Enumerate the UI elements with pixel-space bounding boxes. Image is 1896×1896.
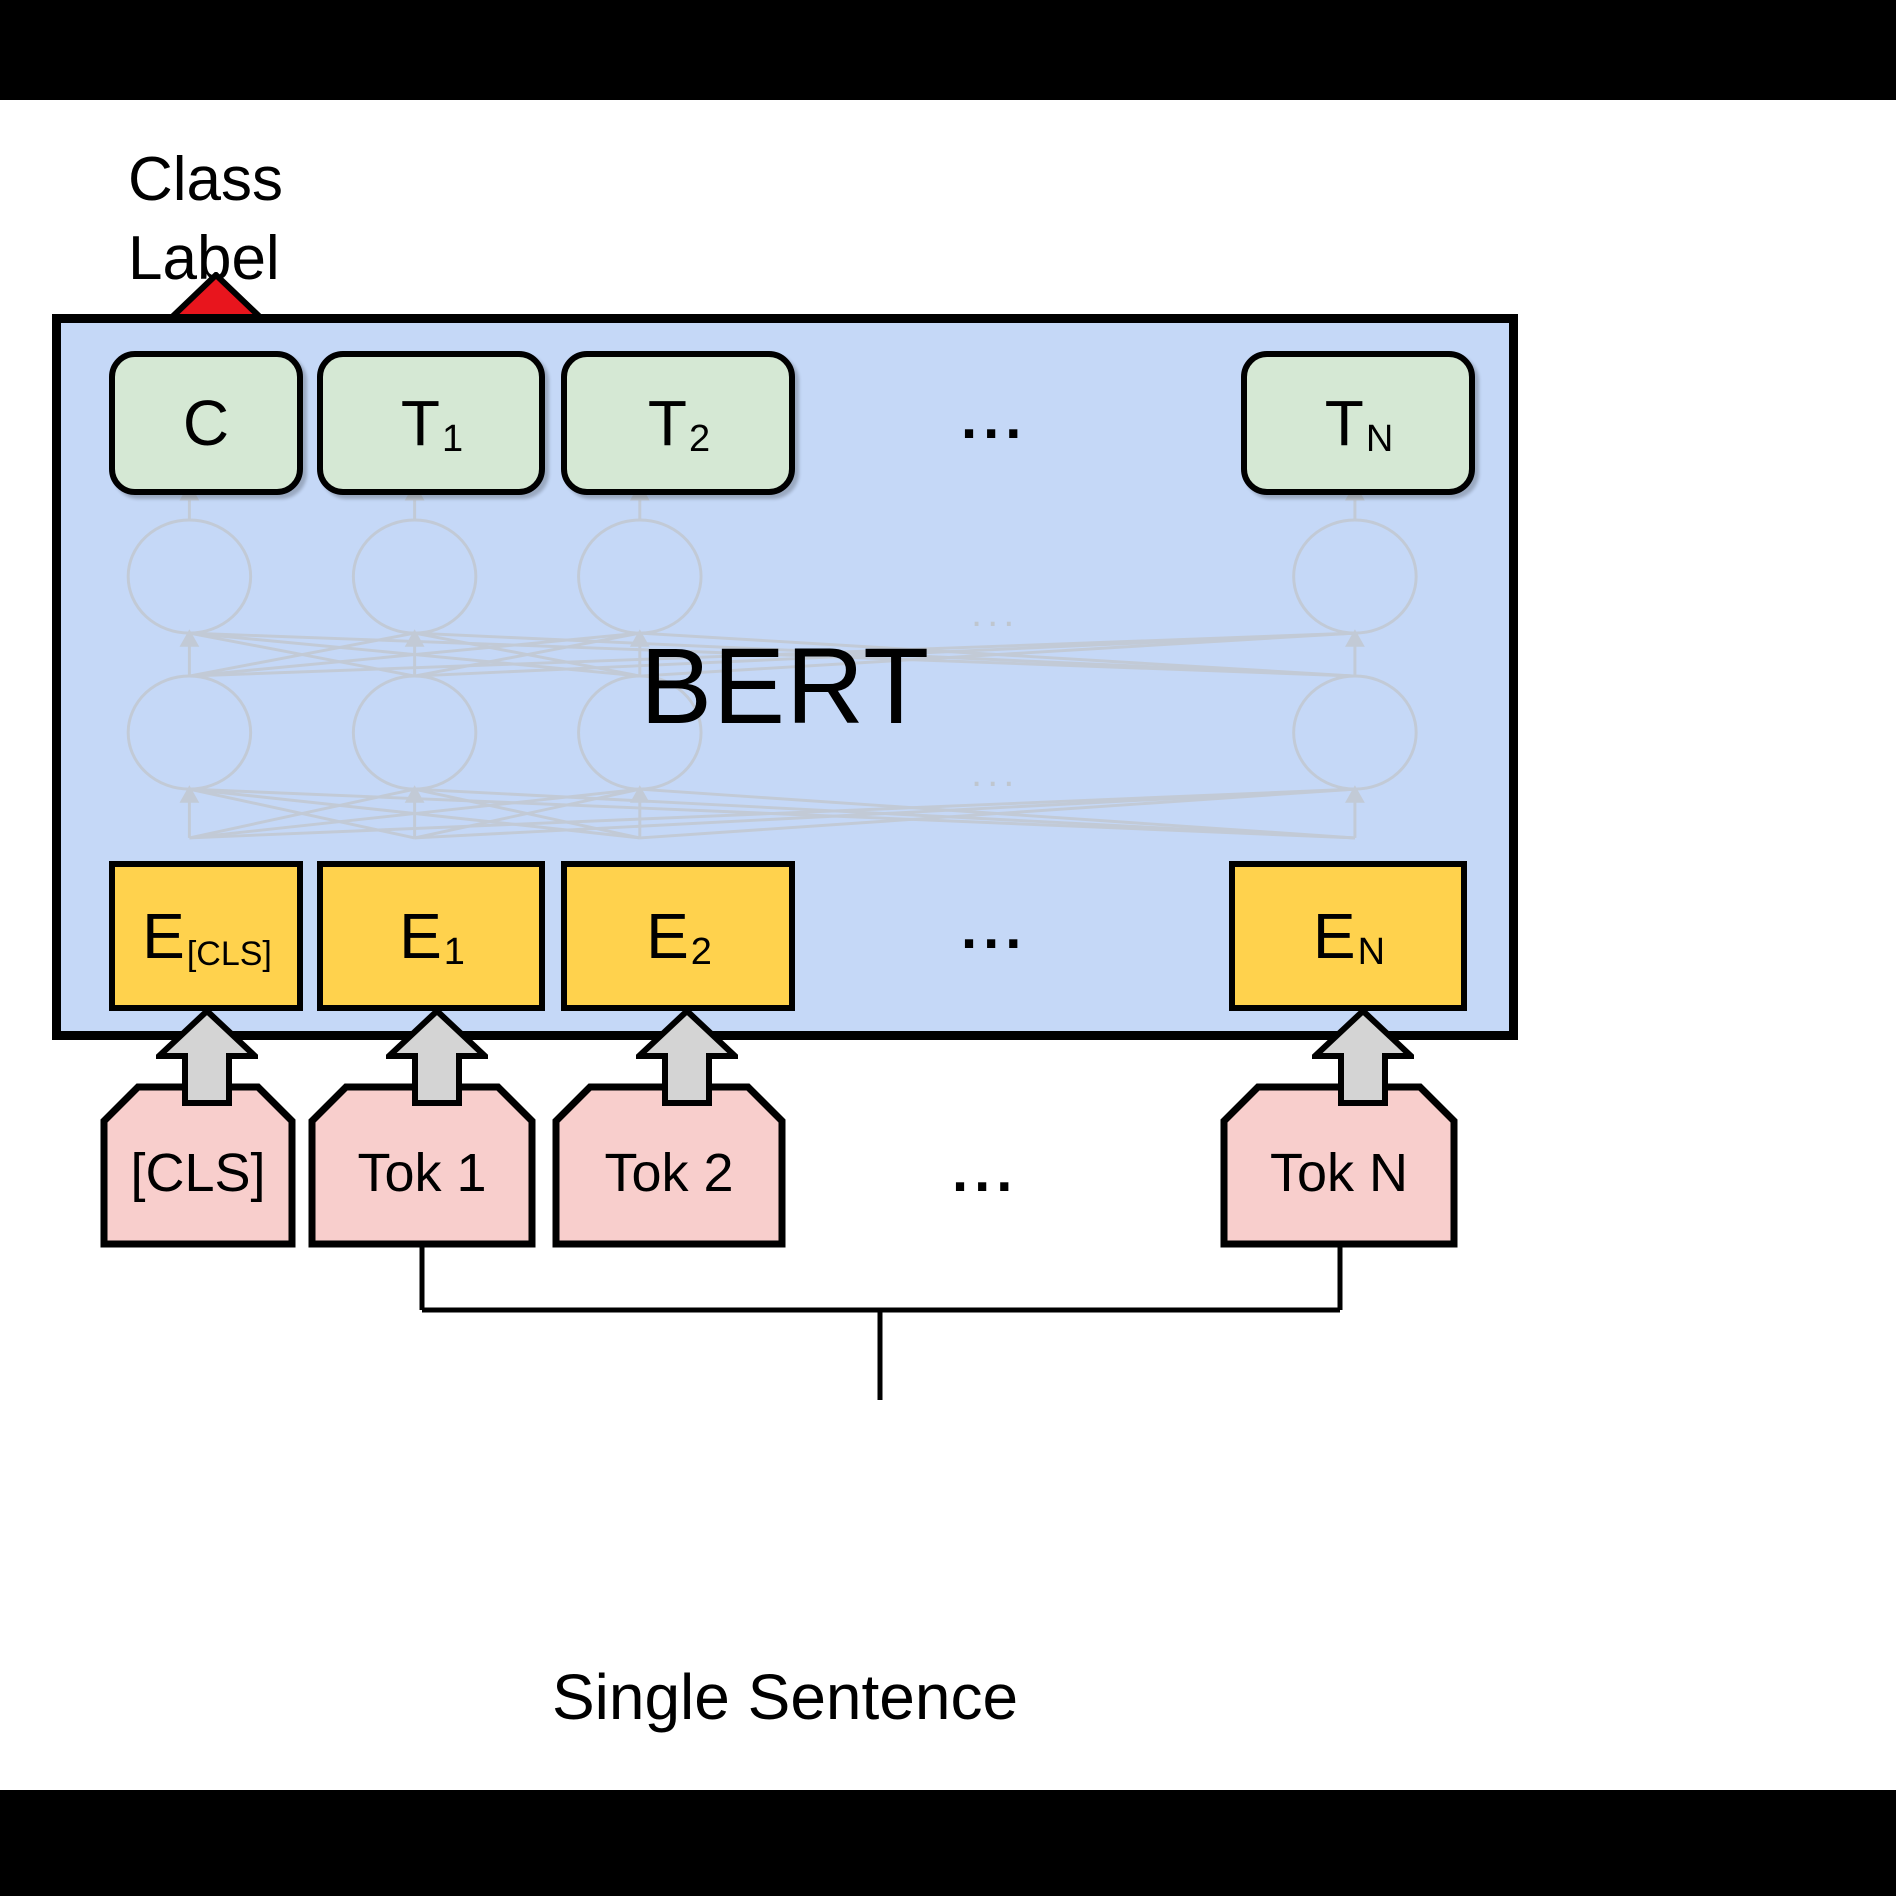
output-box-tn[interactable]: TN xyxy=(1241,351,1475,495)
network-ellipsis-lower: ... xyxy=(971,751,1019,796)
output-box-t2-label: T xyxy=(648,386,687,460)
embedding-box-en-label: E xyxy=(1313,899,1356,973)
embedding-box-e2-label: E xyxy=(646,899,689,973)
figure-canvas: Class Label xyxy=(0,0,1896,1896)
bert-encoder-block: ... ... BERT C T1 T2 ... TN E[CLS] E1 E2… xyxy=(52,314,1518,1040)
letterbox-top xyxy=(0,0,1896,100)
input-arrow-tok1-icon xyxy=(386,1008,488,1106)
input-arrow-tok2-icon xyxy=(636,1008,738,1106)
token-box-tok1[interactable]: Tok 1 xyxy=(308,1083,536,1248)
embedding-row-ellipsis: ... xyxy=(961,895,1027,962)
embedding-box-e1-label: E xyxy=(399,899,442,973)
embedding-box-en-subscript: N xyxy=(1358,933,1385,971)
output-box-tn-label: T xyxy=(1325,386,1364,460)
sentence-bracket-icon xyxy=(0,1240,1570,1640)
embedding-box-cls[interactable]: E[CLS] xyxy=(109,861,303,1011)
output-box-t1-label: T xyxy=(401,386,440,460)
letterbox-bottom xyxy=(0,1790,1896,1896)
embedding-box-cls-label: E xyxy=(142,899,185,973)
output-box-t1-subscript: 1 xyxy=(442,420,463,458)
output-box-t2[interactable]: T2 xyxy=(561,351,795,495)
token-box-cls-label: [CLS] xyxy=(100,1083,296,1248)
token-box-tok1-label: Tok 1 xyxy=(308,1083,536,1248)
embedding-box-e1-subscript: 1 xyxy=(444,933,465,971)
token-box-tok2[interactable]: Tok 2 xyxy=(552,1083,786,1248)
embedding-box-e2-subscript: 2 xyxy=(691,933,712,971)
output-box-c-label: C xyxy=(183,386,229,460)
token-box-tokn-label: Tok N xyxy=(1220,1083,1458,1248)
token-box-tok2-label: Tok 2 xyxy=(552,1083,786,1248)
output-box-t2-subscript: 2 xyxy=(689,420,710,458)
output-box-tn-subscript: N xyxy=(1366,420,1393,458)
sentence-label: Single Sentence xyxy=(0,1660,1570,1734)
output-row-ellipsis: ... xyxy=(961,385,1027,452)
embedding-box-cls-subscript: [CLS] xyxy=(187,935,272,974)
input-arrow-cls-icon xyxy=(156,1008,258,1106)
embedding-box-e1[interactable]: E1 xyxy=(317,861,545,1011)
input-arrow-tokn-icon xyxy=(1312,1008,1414,1106)
embedding-box-e2[interactable]: E2 xyxy=(561,861,795,1011)
network-ellipsis-upper: ... xyxy=(971,591,1019,636)
embedding-box-en[interactable]: EN xyxy=(1229,861,1467,1011)
token-box-cls[interactable]: [CLS] xyxy=(100,1083,296,1248)
output-box-t1[interactable]: T1 xyxy=(317,351,545,495)
token-row-ellipsis: ... xyxy=(952,1138,1018,1205)
token-box-tokn[interactable]: Tok N xyxy=(1220,1083,1458,1248)
output-box-c[interactable]: C xyxy=(109,351,303,495)
